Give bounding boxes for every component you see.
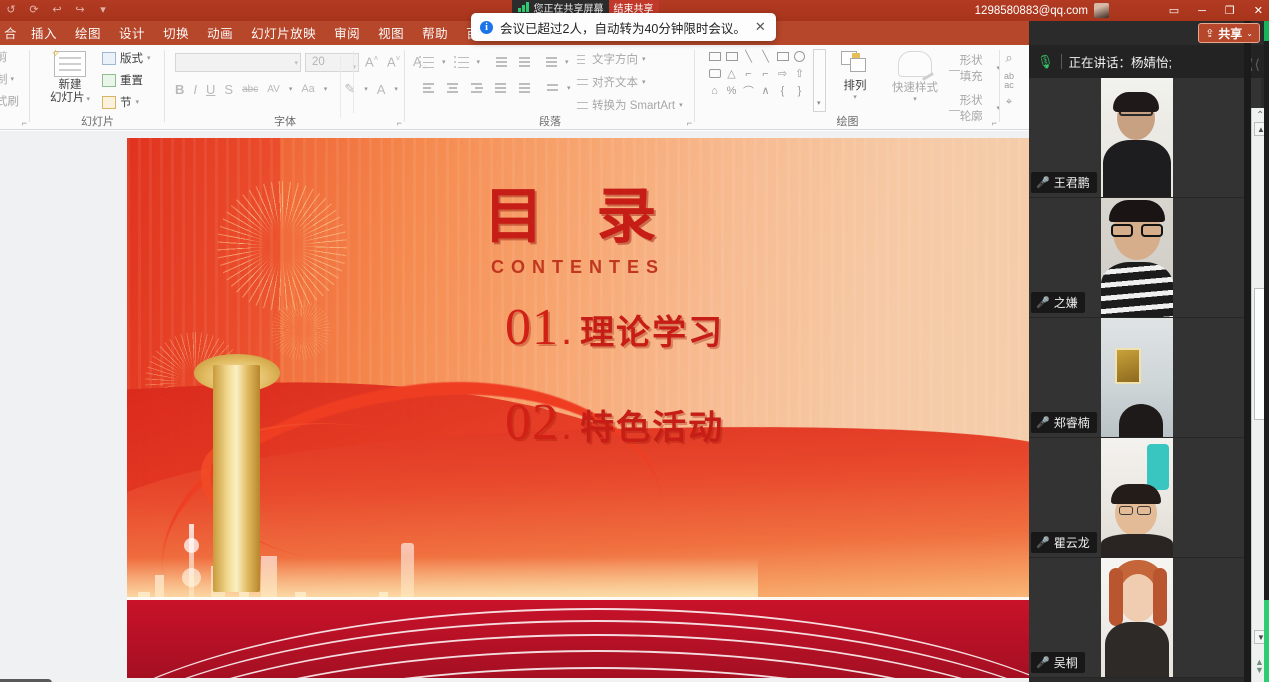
chevron-down-icon: ▾	[136, 98, 140, 106]
new-slide-button[interactable]: ✧ 新建 幻灯片 ▾	[42, 49, 98, 106]
meeting-video-panel: 🎙 正在讲话：杨婧怡; ⟨⟨ 🎤 王君鹏	[1029, 0, 1269, 682]
align-text-label: 对齐文本	[592, 74, 638, 90]
agenda-number: 01	[505, 298, 559, 357]
font-group-label: 字体	[165, 113, 405, 129]
drawing-dialog-launcher-icon[interactable]: ⌐	[992, 118, 997, 128]
align-text-button[interactable]: 对齐文本 ▾	[573, 74, 683, 90]
ribbon-tab-transitions[interactable]: 切换	[154, 21, 198, 45]
cut-button[interactable]: 剪	[0, 49, 19, 65]
microphone-icon: 🎙	[1037, 54, 1054, 70]
text-direction-button[interactable]: 文字方向 ▾	[573, 51, 683, 67]
section-button[interactable]: 节 ▾	[102, 94, 151, 110]
undo-icon[interactable]: ↩	[50, 4, 64, 18]
reset-label: 重置	[120, 72, 143, 88]
customize-qat-icon[interactable]: ▾	[96, 4, 110, 18]
participant-video	[1101, 78, 1173, 198]
chevron-down-icon: ▾	[147, 54, 151, 62]
chevron-down-icon: ▾	[642, 55, 646, 63]
editing-commands: ⌕ abac ⌖	[1004, 50, 1014, 109]
section-icon	[102, 96, 116, 109]
text-highlight-icon[interactable]: ✎	[344, 81, 355, 97]
ribbon-tab-design[interactable]: 设计	[110, 21, 154, 45]
account-email: 1298580883@qq.com	[975, 5, 1088, 17]
new-slide-label-1: 新建	[42, 79, 98, 92]
ribbon-display-options-icon[interactable]: ▭	[1169, 4, 1179, 17]
participant-name: 之嫌	[1054, 294, 1078, 311]
left-brace-icon[interactable]: {	[775, 83, 790, 98]
convert-to-smartart-button[interactable]: 转换为 SmartArt ▾	[573, 97, 683, 113]
slide-title-cn: 目 录	[127, 168, 1029, 255]
chevron-down-icon: ▾	[642, 78, 646, 86]
slide-agenda-item[interactable]: 02 . 特色活动	[505, 393, 724, 452]
previous-slide-icon[interactable]: ▲▼	[1255, 658, 1264, 674]
participant-name-chip: 🎤 吴桐	[1031, 652, 1085, 673]
ribbon-group-clipboard: 剪 制 ▾ 式刷 ⌐	[0, 45, 30, 130]
increase-font-size-button[interactable]: A˄	[365, 54, 378, 69]
right-brace-icon[interactable]: }	[792, 83, 807, 98]
chevron-down-icon: ▾	[85, 96, 90, 103]
slide-canvas-area[interactable]: 目 录 CONTENTES 01 . 理论学习 02 . 特色活动	[0, 131, 1029, 682]
participant-video	[1101, 318, 1173, 438]
freeform-shape-icon[interactable]: %	[724, 83, 739, 98]
screen-edge-indicator	[1264, 0, 1269, 682]
slides-group-label: 幻灯片	[30, 113, 165, 129]
arrange-icon	[841, 51, 869, 75]
avatar[interactable]	[1094, 3, 1109, 18]
participant-video	[1101, 558, 1173, 678]
microphone-muted-icon: 🎤	[1036, 656, 1050, 669]
close-icon[interactable]: ✕	[755, 19, 766, 35]
chevron-down-icon: ▾	[679, 101, 683, 109]
share-button[interactable]: ⇪ 共享 ⌄	[1198, 23, 1260, 43]
participant-video	[1101, 438, 1173, 558]
panel-gutter	[1244, 0, 1251, 682]
redo-icon[interactable]: ↪	[73, 4, 87, 18]
text-direction-small-icon[interactable]	[543, 81, 558, 94]
format-painter-label: 式刷	[0, 93, 19, 109]
paragraph-row-2: ▾	[419, 81, 571, 94]
autosave-icon[interactable]: ⟳	[27, 4, 41, 18]
pentagon-shape-icon[interactable]: ⌂	[707, 83, 722, 98]
slide-title[interactable]: 目 录 CONTENTES	[127, 168, 1029, 278]
font-color-button[interactable]: A	[377, 82, 386, 97]
change-case-button[interactable]: Aa	[301, 83, 314, 95]
participant-video	[1101, 198, 1173, 318]
microphone-muted-icon: 🎤	[1036, 176, 1050, 189]
reset-icon	[102, 74, 116, 87]
text-direction-icon	[573, 53, 588, 66]
smartart-label: 转换为 SmartArt	[592, 97, 675, 113]
paragraph-group-label: 段落	[405, 113, 695, 129]
shape-fill-label: 形状填充	[960, 52, 993, 84]
participant-tile[interactable]: 🎤 王君鹏	[1029, 78, 1261, 198]
rounded-rect-shape-icon[interactable]	[707, 66, 722, 81]
share-screen-icon: ⇪	[1205, 27, 1214, 40]
window-controls: ▭ ─ ❐ ✕	[1169, 0, 1263, 21]
ribbon-group-drawing: ╲ ╲ △ ⌐ ⌐ ⇨ ⇧ ⌂ % ⌒ ∧ { } ▾	[695, 45, 1000, 130]
participant-tile[interactable]: 🎤 吴桐	[1029, 558, 1261, 678]
quick-styles-label: 快速样式	[885, 79, 945, 95]
reset-button[interactable]: 重置	[102, 72, 151, 88]
participant-name: 郑睿楠	[1054, 414, 1090, 431]
format-painter-button[interactable]: 式刷	[0, 93, 19, 109]
up-arrow-shape-icon[interactable]: ⇧	[792, 66, 807, 81]
decrease-font-size-button[interactable]: A˅	[387, 54, 400, 69]
elbow-arrow-icon[interactable]: ⌐	[758, 66, 773, 81]
slide-commands: 版式 ▾ 重置 节 ▾	[102, 50, 151, 110]
clipboard-dialog-launcher-icon[interactable]: ⌐	[22, 118, 27, 128]
minimize-icon[interactable]: ─	[1198, 5, 1206, 17]
align-text-icon	[573, 76, 588, 89]
paragraph-right-commands: 文字方向 ▾ 对齐文本 ▾ 转换为 SmartArt ▾	[573, 51, 683, 113]
chevron-down-icon: ▾	[294, 59, 298, 67]
decrease-indent-icon[interactable]	[492, 55, 507, 68]
toast-message: 会议已超过2人，自动转为40分钟限时会议。	[500, 18, 746, 37]
cut-label: 剪	[0, 49, 8, 65]
microphone-muted-icon: 🎤	[1036, 296, 1050, 309]
line-shape-icon[interactable]: ╲	[741, 49, 756, 64]
chevron-down-icon: ▾	[477, 58, 481, 66]
shape-fill-button[interactable]: 形状填充 ▾	[945, 52, 1000, 84]
slide-title-en: CONTENTES	[127, 257, 1029, 278]
italic-button[interactable]: I	[193, 82, 197, 97]
bullets-icon[interactable]	[419, 55, 434, 68]
smartart-icon	[573, 99, 588, 112]
copy-label: 制	[0, 71, 8, 87]
firework-icon	[271, 300, 331, 360]
chevron-down-icon: ▾	[394, 85, 398, 93]
arrange-button[interactable]: 排列 ▾	[833, 51, 877, 101]
font-size-value: 20	[312, 56, 325, 68]
layout-label: 版式	[120, 50, 143, 66]
screen-root: 合 插入 绘图 设计 切换 动画 幻灯片放映 审阅 视图 帮助 百度网盘 剪 制	[0, 0, 1269, 682]
participant-tile[interactable]: 🎤 瞿云龙	[1029, 438, 1261, 558]
slide-agenda-list: 01 . 理论学习 02 . 特色活动	[505, 298, 724, 488]
quick-styles-button[interactable]: 快速样式 ▾	[885, 51, 945, 103]
account-area[interactable]: 1298580883@qq.com	[975, 0, 1109, 21]
font-dialog-launcher-icon[interactable]: ⌐	[397, 118, 402, 128]
speaking-label: 正在讲话：杨婧怡;	[1069, 52, 1172, 71]
text-direction-label: 文字方向	[592, 51, 638, 67]
shapes-more-button[interactable]: ▾	[813, 49, 826, 112]
drawing-group-label: 绘图	[695, 113, 1000, 129]
slide-track-graphic	[127, 600, 1029, 678]
participant-name-chip: 🎤 郑睿楠	[1031, 412, 1097, 433]
numbering-icon[interactable]	[454, 55, 469, 68]
ribbon-tab-insert[interactable]: 插入	[22, 21, 66, 45]
ribbon-tab-help[interactable]: 帮助	[413, 21, 457, 45]
chevron-down-icon[interactable]: ⌄	[1246, 29, 1253, 38]
oval-shape-icon[interactable]	[792, 49, 807, 64]
ribbon-tab-slideshow[interactable]: 幻灯片放映	[242, 21, 325, 45]
microphone-muted-icon: 🎤	[1036, 416, 1050, 429]
character-spacing-button[interactable]: AV	[267, 84, 280, 95]
right-arrow-shape-icon[interactable]: ⇨	[775, 66, 790, 81]
chevron-down-icon: ▾	[364, 85, 368, 93]
chevron-down-icon: ▾	[565, 58, 569, 66]
copy-button[interactable]: 制 ▾	[0, 71, 19, 87]
shape-fill-icon	[945, 62, 956, 75]
ribbon-tab-view[interactable]: 视图	[369, 21, 413, 45]
save-icon[interactable]: ↺	[4, 4, 18, 18]
agenda-dot: .	[561, 309, 572, 354]
new-slide-label-2: 幻灯片 ▾	[42, 92, 98, 106]
participant-tile[interactable]: 🎤 郑睿楠	[1029, 318, 1261, 438]
new-slide-icon: ✧	[54, 51, 86, 77]
chevron-down-icon: ▾	[289, 85, 293, 93]
participant-name-chip: 🎤 瞿云龙	[1031, 532, 1097, 553]
ribbon-group-editing: ⌕ abac ⌖	[1000, 45, 1029, 130]
participant-name: 王君鹏	[1054, 174, 1090, 191]
rectangle-shape-icon[interactable]	[775, 49, 790, 64]
layout-button[interactable]: 版式 ▾	[102, 50, 151, 66]
align-left-icon[interactable]	[419, 81, 434, 94]
chevron-down-icon: ▾	[11, 75, 15, 83]
powerpoint-window: 合 插入 绘图 设计 切换 动画 幻灯片放映 审阅 视图 帮助 百度网盘 剪 制	[0, 0, 1029, 682]
triangle-shape-icon[interactable]: △	[724, 66, 739, 81]
slide-agenda-item[interactable]: 01 . 理论学习	[505, 298, 724, 357]
slide-track-edge	[127, 597, 1029, 600]
search-icon[interactable]: ⌕	[1005, 50, 1012, 66]
arc-shape-icon[interactable]: ⌒	[741, 83, 756, 98]
justify-icon[interactable]	[491, 81, 506, 94]
ribbon-group-slides: ✧ 新建 幻灯片 ▾ 版式 ▾ 重置	[30, 45, 165, 130]
bold-button[interactable]: B	[175, 82, 184, 97]
slide-surface[interactable]: 目 录 CONTENTES 01 . 理论学习 02 . 特色活动	[127, 138, 1029, 678]
microphone-muted-icon: 🎤	[1036, 536, 1050, 549]
agenda-text: 特色活动	[580, 400, 724, 449]
layout-icon	[102, 52, 116, 65]
line-spacing-icon[interactable]	[542, 55, 557, 68]
paragraph-dialog-launcher-icon[interactable]: ⌐	[687, 118, 692, 128]
maximize-icon[interactable]: ❐	[1225, 4, 1235, 17]
select-cursor-icon[interactable]: ⌖	[1006, 96, 1012, 109]
participant-name: 瞿云龙	[1054, 534, 1090, 551]
participant-name-chip: 🎤 王君鹏	[1031, 172, 1097, 193]
ribbon-tab-0[interactable]: 合	[2, 21, 22, 45]
ribbon-group-font: ▾ 20 ▾ A˄ A˅ A◌ B I U S abc AV ▾	[165, 45, 405, 130]
chevron-down-icon: ▾	[817, 99, 821, 107]
strikethrough-button[interactable]: abc	[242, 84, 258, 95]
close-icon[interactable]: ✕	[1254, 4, 1263, 17]
section-label: 节	[120, 94, 132, 110]
ribbon-body: 剪 制 ▾ 式刷 ⌐ ✧ 新建	[0, 45, 1029, 130]
chevron-down-icon: ▾	[567, 84, 571, 92]
align-center-icon[interactable]	[443, 81, 458, 94]
shapes-gallery[interactable]: ╲ ╲ △ ⌐ ⌐ ⇨ ⇧ ⌂ % ⌒ ∧ { }	[707, 49, 812, 98]
quick-access-toolbar: ↺ ⟳ ↩ ↪ ▾	[0, 0, 110, 21]
chevron-down-icon: ▾	[442, 58, 446, 66]
picture-shape-icon[interactable]	[724, 49, 739, 64]
ribbon-tab-review[interactable]: 审阅	[325, 21, 369, 45]
align-right-icon[interactable]	[467, 81, 482, 94]
text-shadow-button[interactable]: S	[224, 82, 233, 97]
arrange-label: 排列	[833, 77, 877, 93]
ribbon-group-paragraph: ▾ ▾ ▾ ▾	[405, 45, 695, 130]
chevron-down-icon: ▾	[833, 93, 877, 101]
clipboard-items: 剪 制 ▾ 式刷	[0, 49, 19, 109]
font-size-input[interactable]: 20 ▾	[305, 53, 359, 72]
participant-tiles: 🎤 王君鹏 🎤 之嫌	[1029, 78, 1261, 682]
ribbon-tab-draw[interactable]: 绘图	[66, 21, 110, 45]
speaking-indicator-bar: 🎙 正在讲话：杨婧怡; ⟨⟨	[1029, 45, 1269, 78]
arrow-shape-icon[interactable]: ╲	[758, 49, 773, 64]
elbow-connector-icon[interactable]: ⌐	[741, 66, 756, 81]
agenda-dot: .	[561, 404, 572, 449]
font-name-input[interactable]: ▾	[175, 53, 301, 72]
replace-icon[interactable]: abac	[1004, 72, 1014, 90]
underline-button[interactable]: U	[206, 82, 215, 97]
agenda-text: 理论学习	[580, 305, 724, 354]
font-format-row: B I U S abc AV ▾ Aa ▾ ✎ ▾ A ▾	[175, 81, 398, 97]
chevron-down-icon: ▾	[324, 85, 328, 93]
columns-icon[interactable]	[515, 81, 530, 94]
textbox-shape-icon[interactable]	[707, 49, 722, 64]
quick-styles-icon	[898, 51, 932, 77]
info-icon: i	[480, 21, 493, 34]
participant-name: 吴桐	[1054, 654, 1078, 671]
meeting-limit-toast: i 会议已超过2人，自动转为40分钟限时会议。 ✕	[471, 13, 776, 41]
paragraph-row-1: ▾ ▾ ▾	[419, 55, 569, 68]
participant-name-chip: 🎤 之嫌	[1031, 292, 1085, 313]
increase-indent-icon[interactable]	[515, 55, 530, 68]
curve-shape-icon[interactable]: ∧	[758, 83, 773, 98]
signal-strength-icon	[518, 2, 529, 12]
share-button-label: 共享	[1218, 25, 1242, 42]
slide-gold-column	[213, 365, 260, 592]
divider	[1061, 54, 1062, 69]
ribbon-tab-animations[interactable]: 动画	[198, 21, 242, 45]
agenda-number: 02	[505, 393, 559, 452]
chevron-down-icon: ▾	[885, 95, 945, 103]
participant-tile[interactable]: 🎤 之嫌	[1029, 198, 1261, 318]
